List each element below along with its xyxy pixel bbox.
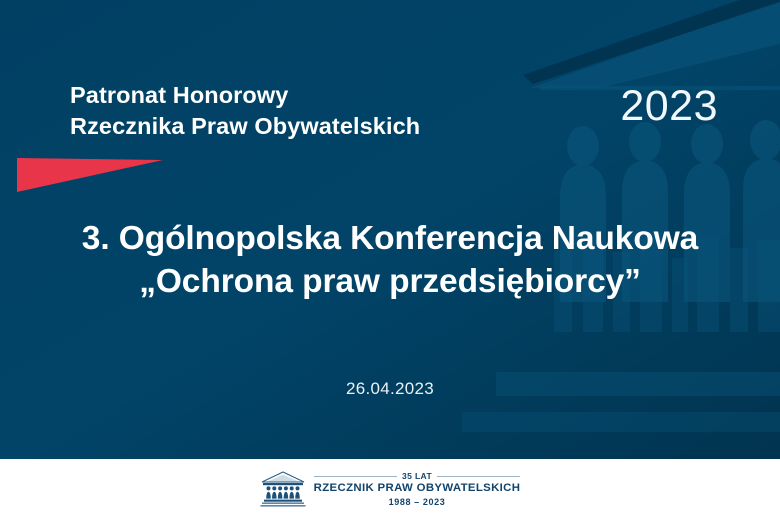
logo-anniversary: 35 LAT — [402, 472, 432, 481]
logo-anniversary-row: 35 LAT — [314, 472, 521, 481]
footer-bar: 35 LAT RZECZNIK PRAW OBYWATELSKICH 1988 … — [0, 459, 780, 520]
conference-title: 3. Ogólnopolska Konferencja Naukowa „Och… — [60, 218, 720, 303]
year-label: 2023 — [0, 82, 780, 131]
classical-temple-people-icon — [260, 471, 306, 509]
logo-institution-name: RZECZNIK PRAW OBYWATELSKICH — [314, 483, 521, 494]
logo-year-range: 1988 – 2023 — [389, 498, 446, 507]
logo-rule-right — [437, 476, 520, 477]
rpo-logo: 35 LAT RZECZNIK PRAW OBYWATELSKICH 1988 … — [260, 471, 521, 509]
logo-text-block: 35 LAT RZECZNIK PRAW OBYWATELSKICH 1988 … — [314, 472, 521, 506]
conference-date: 26.04.2023 — [0, 379, 780, 399]
people-columns — [266, 486, 300, 498]
red-wedge-accent — [17, 157, 163, 192]
logo-rule-left — [314, 476, 397, 477]
conference-poster: Patronat Honorowy Rzecznika Praw Obywate… — [0, 0, 780, 520]
